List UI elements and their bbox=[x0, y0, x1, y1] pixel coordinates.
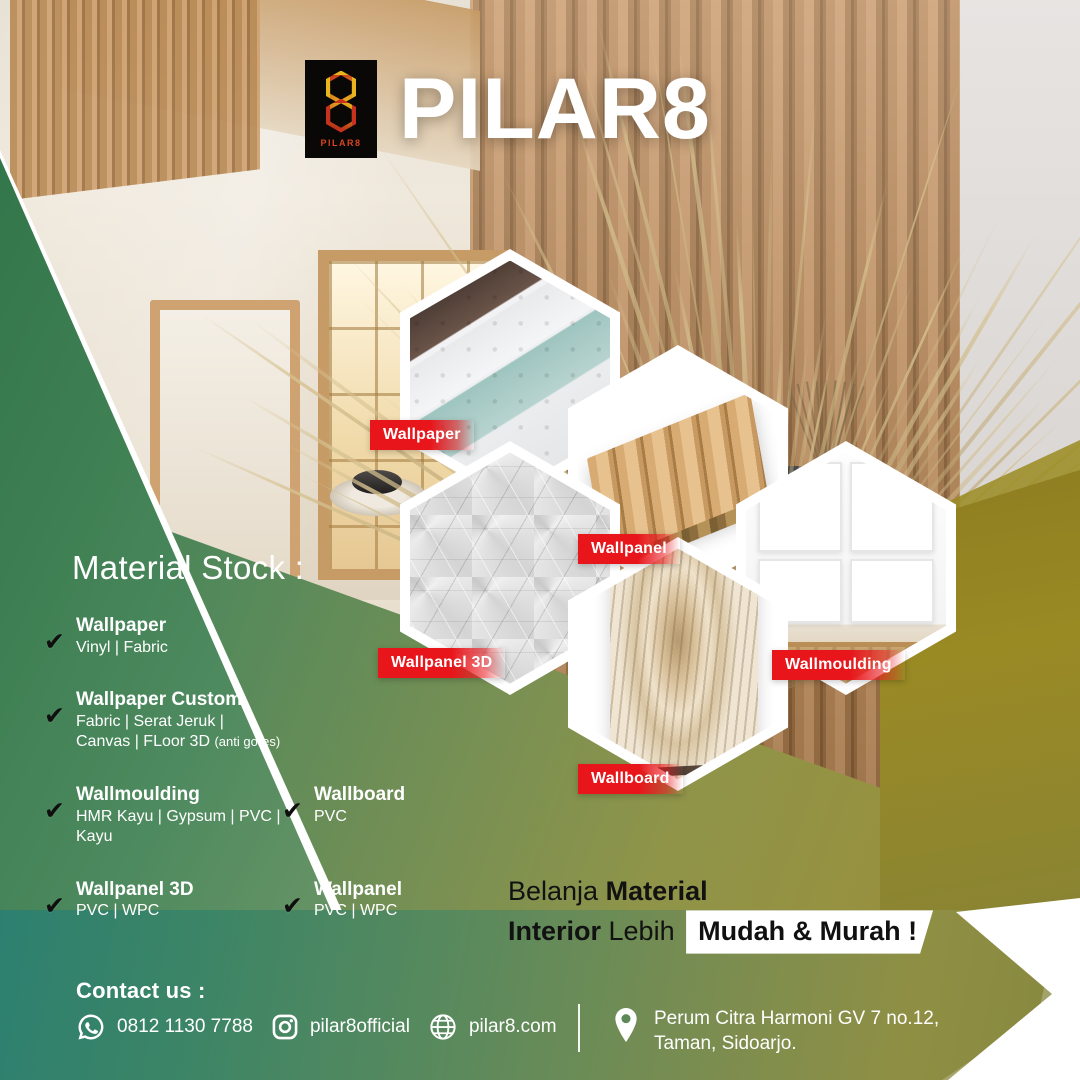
instagram-icon bbox=[271, 1013, 299, 1041]
whatsapp-icon bbox=[76, 1012, 106, 1042]
contact-instagram[interactable]: pilar8official bbox=[271, 1013, 410, 1041]
material-stock-list: ✔ Wallpaper Vinyl | Fabric ✔ Wallpaper C… bbox=[44, 614, 494, 922]
stock-item-wallpaper: ✔ Wallpaper Vinyl | Fabric bbox=[44, 614, 282, 658]
promo-poster: PILAR8 PILAR8 Wallpaper W bbox=[0, 0, 1080, 1080]
stock-item-wallpanel-3d: ✔ Wallpanel 3D PVC | WPC bbox=[44, 878, 282, 922]
globe-icon bbox=[428, 1012, 458, 1042]
contact-website[interactable]: pilar8.com bbox=[428, 1012, 557, 1042]
contact-row: 0812 1130 7788 pilar8official pilar8.com bbox=[76, 1012, 557, 1042]
tagline-line2-bold: Interior bbox=[508, 916, 601, 946]
check-icon: ✔ bbox=[44, 630, 68, 655]
badge-wallpaper: Wallpaper bbox=[370, 420, 474, 450]
stock-item-wallpanel: ✔ Wallpanel PVC | WPC bbox=[282, 878, 494, 922]
stock-name: Wallmoulding bbox=[76, 783, 282, 807]
stock-note: (anti gores) bbox=[214, 734, 280, 749]
address-line-1: Perum Citra Harmoni GV 7 no.12, bbox=[654, 1008, 939, 1029]
instagram-handle: pilar8official bbox=[310, 1016, 410, 1038]
contact-whatsapp[interactable]: 0812 1130 7788 bbox=[76, 1012, 253, 1042]
material-stock-title: Material Stock : bbox=[72, 549, 304, 587]
tagline-line1-bold: Material bbox=[606, 876, 708, 906]
stock-name: Wallboard bbox=[314, 783, 405, 807]
tagline-highlight: Mudah & Murah ! bbox=[686, 910, 933, 953]
stock-item-wallmoulding: ✔ Wallmoulding HMR Kayu | Gypsum | PVC |… bbox=[44, 783, 282, 848]
whatsapp-number: 0812 1130 7788 bbox=[117, 1016, 253, 1038]
stock-name: Wallpaper bbox=[76, 614, 168, 638]
address-line-2: Taman, Sidoarjo. bbox=[654, 1033, 797, 1054]
badge-wallboard: Wallboard bbox=[578, 764, 683, 794]
badge-wallpanel: Wallpanel bbox=[578, 534, 680, 564]
stock-name: Wallpanel 3D bbox=[76, 878, 194, 902]
contact-address: Perum Citra Harmoni GV 7 no.12, Taman, S… bbox=[612, 1006, 939, 1056]
check-icon: ✔ bbox=[44, 704, 68, 729]
tagline-line1-plain: Belanja bbox=[508, 876, 606, 906]
stock-item-wallboard: ✔ Wallboard PVC bbox=[282, 783, 494, 848]
wallboard-image bbox=[578, 549, 778, 780]
check-icon: ✔ bbox=[44, 894, 68, 919]
contact-divider bbox=[578, 1004, 580, 1052]
tagline: Belanja Material Interior Lebih Mudah & … bbox=[508, 872, 933, 954]
stock-sub: PVC | WPC bbox=[76, 902, 159, 919]
stock-name: Wallpanel bbox=[314, 878, 402, 902]
stock-item-wallpaper-custom: ✔ Wallpaper Custom Fabric | Serat Jeruk … bbox=[44, 688, 282, 753]
check-icon: ✔ bbox=[282, 799, 306, 824]
stock-name: Wallpaper Custom bbox=[76, 688, 282, 712]
stock-sub: PVC bbox=[314, 808, 347, 825]
website-url: pilar8.com bbox=[469, 1016, 557, 1038]
badge-wallmoulding: Wallmoulding bbox=[772, 650, 905, 680]
stock-sub: PVC | WPC bbox=[314, 902, 397, 919]
stock-sub: HMR Kayu | Gypsum | PVC | Kayu bbox=[76, 808, 281, 845]
tagline-line2-plain: Lebih bbox=[601, 916, 682, 946]
check-icon: ✔ bbox=[44, 799, 68, 824]
contact-title: Contact us : bbox=[76, 978, 206, 1004]
stock-sub: Vinyl | Fabric bbox=[76, 639, 168, 656]
check-icon: ✔ bbox=[282, 894, 306, 919]
stock-sub: Fabric | Serat Jeruk | Canvas | FLoor 3D bbox=[76, 713, 224, 750]
location-pin-icon bbox=[612, 1008, 640, 1049]
